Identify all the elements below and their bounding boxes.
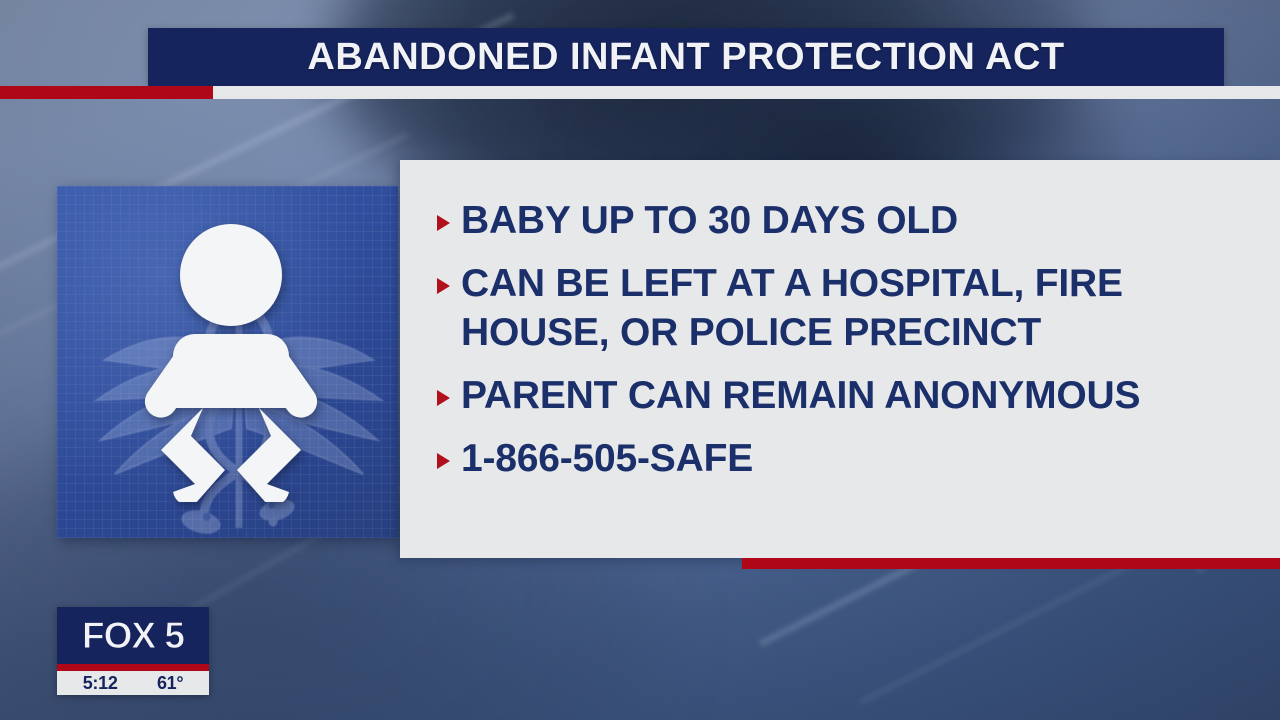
list-item-label: BABY UP TO 30 DAYS OLD [461, 196, 958, 245]
list-item: CAN BE LEFT AT A HOSPITAL, FIRE HOUSE, O… [437, 259, 1250, 357]
station-logo-box: FOX 5 [57, 607, 209, 664]
fact-list: BABY UP TO 30 DAYS OLD CAN BE LEFT AT A … [437, 196, 1250, 497]
list-item: BABY UP TO 30 DAYS OLD [437, 196, 1250, 245]
station-bug-info-bar: 5:12 61° [57, 671, 209, 695]
fact-panel: BABY UP TO 30 DAYS OLD CAN BE LEFT AT A … [400, 160, 1280, 558]
baby-icon-panel [57, 186, 398, 538]
temperature-value: 61° [157, 673, 183, 694]
station-bug: FOX 5 5:12 61° [57, 607, 209, 695]
fox5-logo: FOX 5 [82, 615, 184, 657]
headline-red-accent-bar [0, 86, 213, 99]
triangle-bullet-icon [437, 215, 450, 231]
clock-time: 5:12 [83, 673, 118, 694]
headline-banner: ABANDONED INFANT PROTECTION ACT [148, 28, 1224, 86]
baby-icon [143, 224, 319, 502]
broadcast-graphic: ABANDONED INFANT PROTECTION ACT [0, 0, 1280, 720]
list-item-label: PARENT CAN REMAIN ANONYMOUS [461, 371, 1140, 420]
fact-panel-red-accent-bar [742, 558, 1280, 569]
list-item: PARENT CAN REMAIN ANONYMOUS [437, 371, 1250, 420]
list-item-label: CAN BE LEFT AT A HOSPITAL, FIRE HOUSE, O… [461, 259, 1250, 357]
list-item: 1-866-505-SAFE [437, 434, 1250, 483]
list-item-label: 1-866-505-SAFE [461, 434, 753, 483]
headline-grey-accent-bar [213, 86, 1280, 99]
triangle-bullet-icon [437, 278, 450, 294]
headline-text: ABANDONED INFANT PROTECTION ACT [307, 36, 1064, 79]
triangle-bullet-icon [437, 453, 450, 469]
station-bug-red-stripe [57, 664, 209, 671]
triangle-bullet-icon [437, 390, 450, 406]
